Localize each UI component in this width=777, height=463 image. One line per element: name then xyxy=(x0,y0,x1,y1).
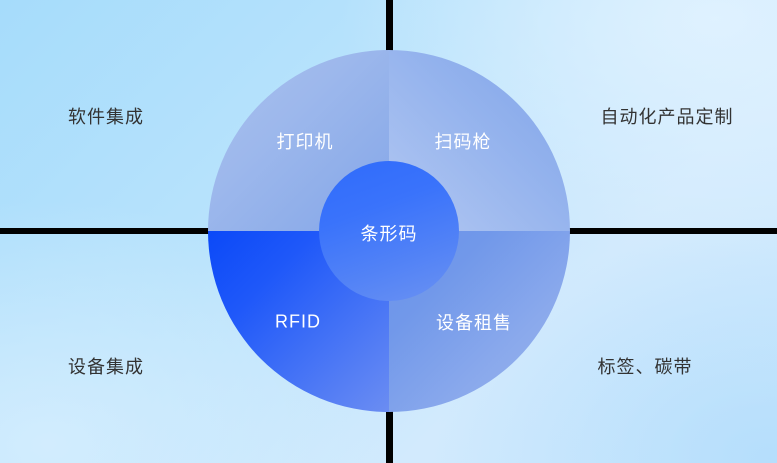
ring-label-top-right: 扫码枪 xyxy=(435,128,492,154)
ring-label-bottom-left: RFID xyxy=(275,312,321,333)
corner-label-top-right: 自动化产品定制 xyxy=(601,103,734,129)
diagram-canvas: 条形码 打印机 扫码枪 RFID 设备租售 软件集成 自动化产品定制 设备集成 … xyxy=(0,0,777,463)
core-label: 条形码 xyxy=(361,220,418,246)
corner-label-bottom-left: 设备集成 xyxy=(68,353,144,379)
corner-label-bottom-right: 标签、碳带 xyxy=(598,353,693,379)
corner-label-top-left: 软件集成 xyxy=(68,103,144,129)
ring-label-bottom-right: 设备租售 xyxy=(436,309,512,335)
ring-label-top-left: 打印机 xyxy=(277,128,334,154)
